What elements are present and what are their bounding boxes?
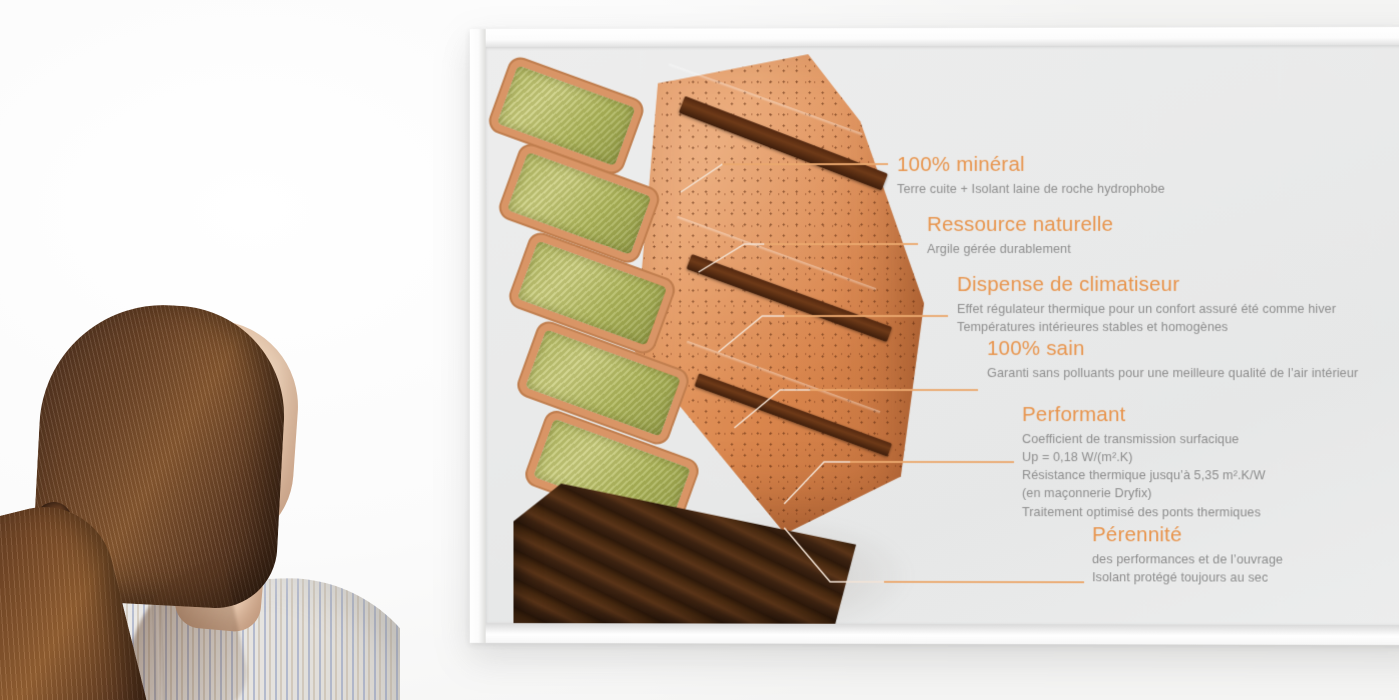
callout-title: 100% sain xyxy=(987,337,1358,361)
callout-list: 100% minéral Terre cuite + Isolant laine… xyxy=(486,45,1399,625)
callout-body: Coefficient de transmission surfacique U… xyxy=(1022,430,1265,522)
callout-body-line: Argile gérée durablement xyxy=(927,239,1113,257)
callout-body-line: Up = 0,18 W/(m².K) xyxy=(1022,448,1265,466)
callout-body-line: (en maçonnerie Dryfix) xyxy=(1022,484,1265,503)
callout-title: Dispense de climatiseur xyxy=(957,273,1336,297)
callout-mineral: 100% minéral Terre cuite + Isolant laine… xyxy=(897,153,1165,198)
callout-body: Garanti sans polluants pour une meilleur… xyxy=(987,364,1358,382)
callout-title: Performant xyxy=(1022,403,1265,427)
callout-body-line: Températures intérieures stables et homo… xyxy=(957,318,1336,336)
callout-body-line: Traitement optimisé des ponts thermiques xyxy=(1022,503,1265,522)
callout-ressource-naturelle: Ressource naturelle Argile gérée durable… xyxy=(927,213,1113,258)
scene-stage: 100% minéral Terre cuite + Isolant laine… xyxy=(0,0,1399,700)
callout-body-line: Terre cuite + Isolant laine de roche hyd… xyxy=(897,179,1165,198)
callout-performant: Performant Coefficient de transmission s… xyxy=(1022,403,1265,521)
callout-body-line: des performances et de l’ouvrage xyxy=(1092,550,1283,569)
callout-body: des performances et de l’ouvrage Isolant… xyxy=(1092,550,1283,587)
callout-body: Effet régulateur thermique pour un confo… xyxy=(957,299,1336,336)
callout-body: Argile gérée durablement xyxy=(927,239,1113,257)
person-photo xyxy=(0,150,400,700)
frame-edge-top xyxy=(470,27,1399,47)
callout-body-line: Résistance thermique jusqu’à 5,35 m².K/W xyxy=(1022,466,1265,485)
frame-edge-bottom xyxy=(470,623,1399,645)
callout-title: Pérennité xyxy=(1092,523,1283,547)
callout-body-line: Isolant protégé toujours au sec xyxy=(1092,568,1283,587)
callout-sain: 100% sain Garanti sans polluants pour un… xyxy=(987,337,1358,382)
frame-edge-left xyxy=(470,29,486,643)
callout-dispense-climatiseur: Dispense de climatiseur Effet régulateur… xyxy=(957,273,1336,336)
callout-body-line: Effet régulateur thermique pour un confo… xyxy=(957,299,1336,317)
callout-perennite: Pérennité des performances et de l’ouvra… xyxy=(1092,523,1283,586)
framed-panel: 100% minéral Terre cuite + Isolant laine… xyxy=(470,27,1399,645)
callout-body-line: Garanti sans polluants pour une meilleur… xyxy=(987,364,1358,382)
callout-title: Ressource naturelle xyxy=(927,213,1113,237)
callout-title: 100% minéral xyxy=(897,153,1165,177)
callout-body-line: Coefficient de transmission surfacique xyxy=(1022,430,1265,448)
callout-body: Terre cuite + Isolant laine de roche hyd… xyxy=(897,179,1165,198)
panel-canvas: 100% minéral Terre cuite + Isolant laine… xyxy=(486,45,1399,625)
